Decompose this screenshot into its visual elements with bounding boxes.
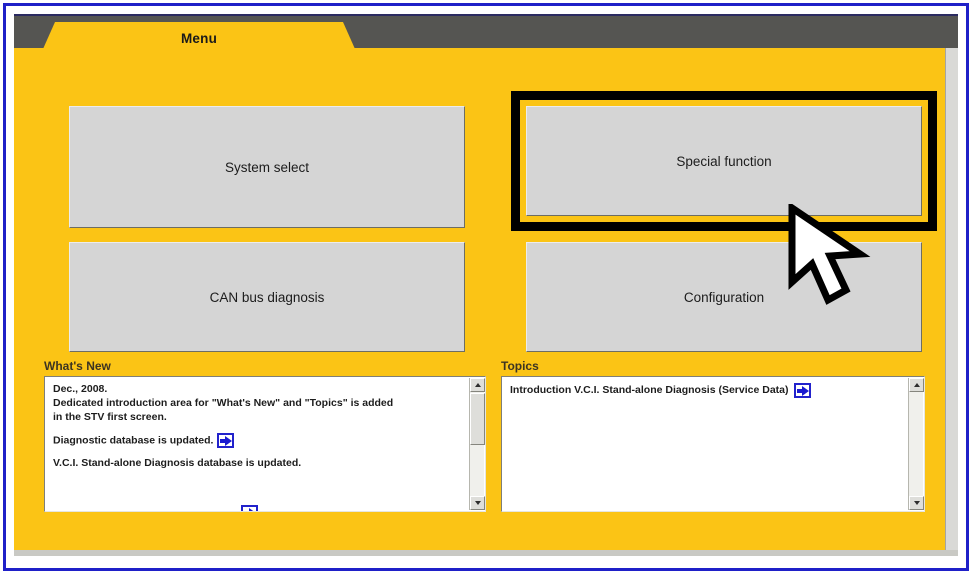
scroll-down-icon[interactable] xyxy=(909,496,924,510)
can-bus-diagnosis-button[interactable]: CAN bus diagnosis xyxy=(69,242,465,352)
scroll-up-icon[interactable] xyxy=(470,378,485,392)
system-select-button[interactable]: System select xyxy=(69,106,465,228)
topics-content: Introduction V.C.I. Stand-alone Diagnosi… xyxy=(502,377,908,398)
blue-right-arrow-icon[interactable] xyxy=(241,505,258,512)
whats-new-line: V.C.I. Stand-alone Diagnosis database is… xyxy=(53,457,461,470)
tab-menu-label: Menu xyxy=(39,31,359,46)
topics-label: Topics xyxy=(501,359,539,373)
topic-label: Introduction V.C.I. Stand-alone Diagnosi… xyxy=(510,384,789,397)
whats-new-line: Dec., 2008. xyxy=(53,383,461,396)
scroll-up-icon[interactable] xyxy=(909,378,924,392)
whats-new-listbox[interactable]: Dec., 2008. Dedicated introduction area … xyxy=(44,376,486,512)
list-item[interactable]: Introduction V.C.I. Stand-alone Diagnosi… xyxy=(510,383,900,398)
blue-right-arrow-icon[interactable] xyxy=(217,433,234,448)
configuration-button[interactable]: Configuration xyxy=(526,242,922,352)
tab-menu[interactable]: Menu xyxy=(39,22,359,58)
whats-new-line: Dedicated introduction area for "What's … xyxy=(53,397,461,410)
whats-new-label: What's New xyxy=(44,359,111,373)
blue-right-arrow-icon[interactable] xyxy=(794,383,811,398)
topics-listbox[interactable]: Introduction V.C.I. Stand-alone Diagnosi… xyxy=(501,376,925,512)
whats-new-line: in the STV first screen. xyxy=(53,411,461,424)
whats-new-line-text: Diagnostic database is updated. xyxy=(53,434,213,446)
scroll-down-icon[interactable] xyxy=(470,496,485,510)
scrollbar-thumb[interactable] xyxy=(470,393,485,445)
whats-new-content: Dec., 2008. Dedicated introduction area … xyxy=(45,377,469,471)
special-function-button[interactable]: Special function xyxy=(526,106,922,216)
outer-blue-frame: Menu System select CAN bus diagnosis Spe… xyxy=(3,3,969,571)
window-scrollbar[interactable] xyxy=(945,48,958,556)
whats-new-scrollbar[interactable] xyxy=(469,378,484,510)
application-window: Menu System select CAN bus diagnosis Spe… xyxy=(14,14,958,556)
panel-bottom-edge xyxy=(14,550,958,556)
whats-new-line: Diagnostic database is updated. xyxy=(53,433,461,448)
topics-scrollbar[interactable] xyxy=(908,378,923,510)
